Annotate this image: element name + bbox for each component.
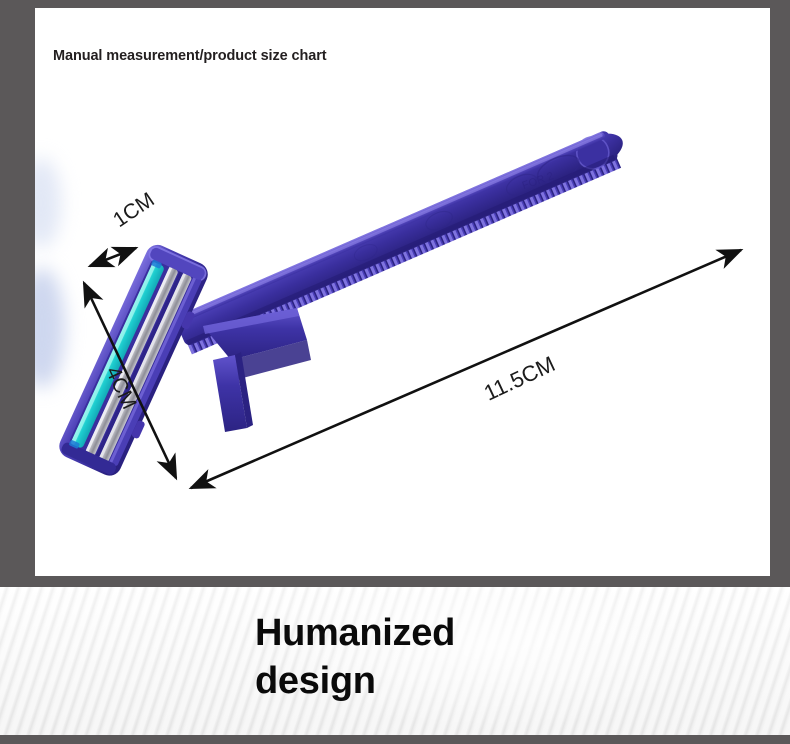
bottom-frame-strip [0, 735, 790, 744]
dimension-arrow-overall-length [191, 250, 741, 488]
caption-line-1: Humanized [255, 609, 455, 657]
dimension-arrow-head-width [90, 248, 136, 266]
caption-band: Humanized design [0, 587, 790, 735]
product-infographic: Manual measurement/product size chart [0, 0, 790, 744]
panel-divider [0, 576, 790, 587]
caption-line-2: design [255, 657, 455, 705]
dimension-annotations [35, 8, 770, 576]
caption-heading: Humanized design [255, 609, 455, 705]
product-photo-panel: Manual measurement/product size chart [35, 8, 770, 576]
